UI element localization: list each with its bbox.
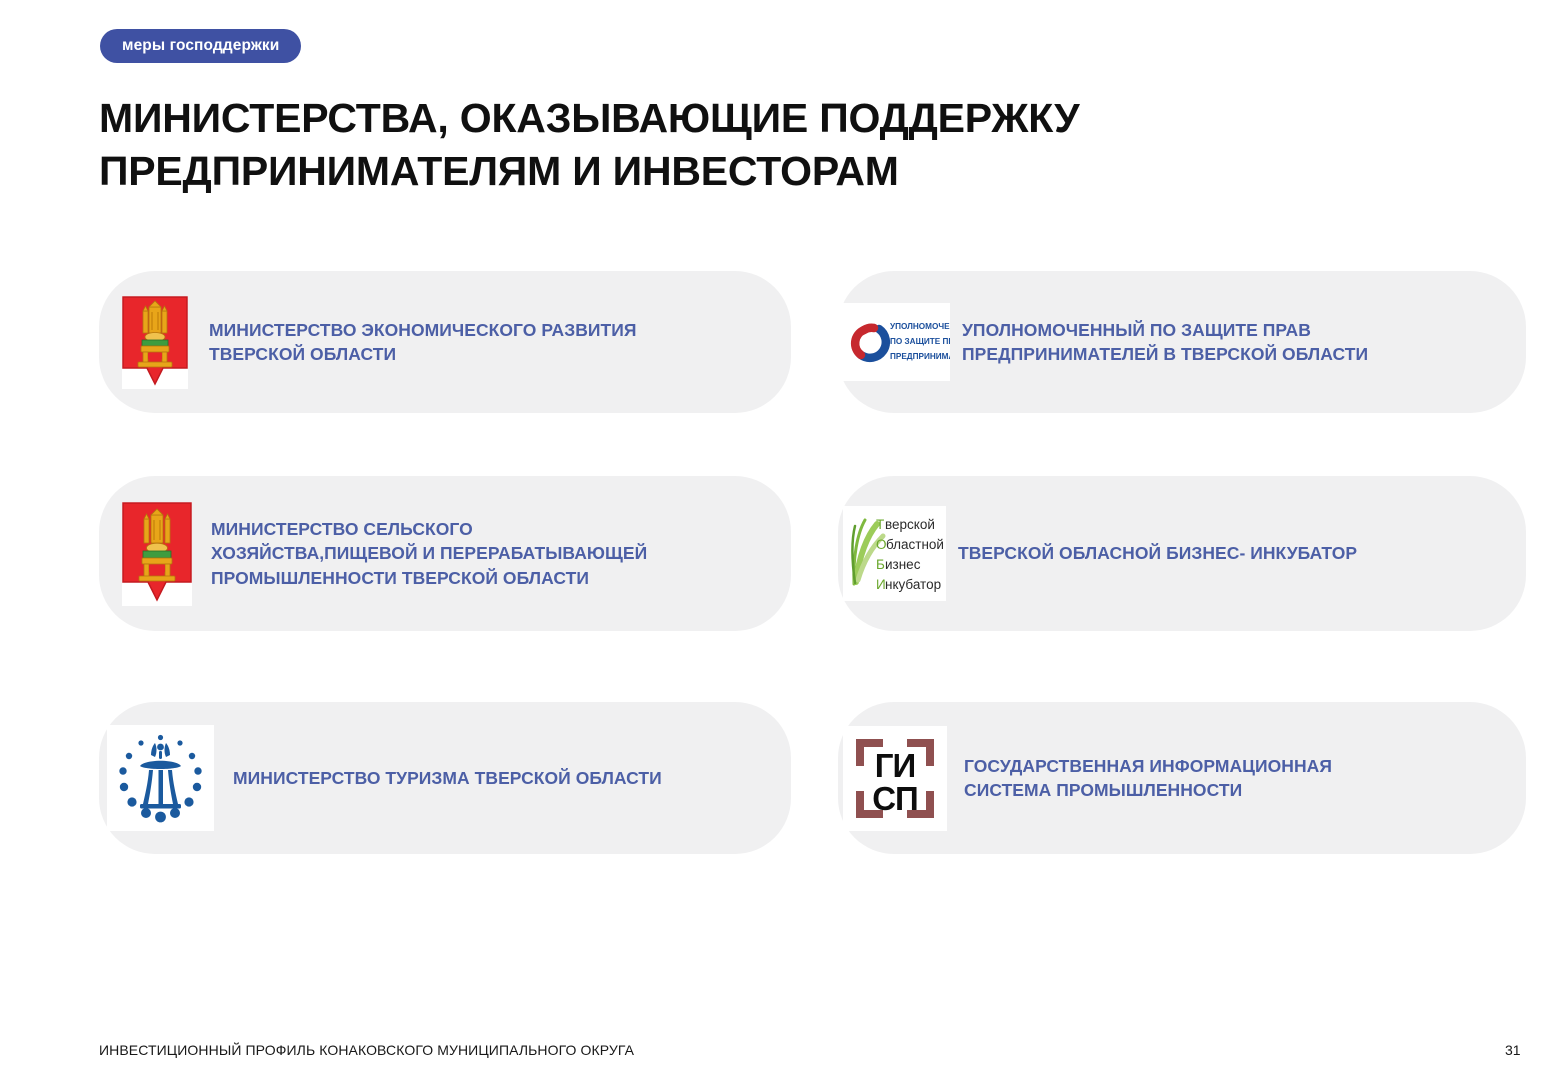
card-label: МИНИСТЕРСТВО СЕЛЬСКОГО ХОЗЯЙСТВА,ПИЩЕВОЙ… bbox=[211, 517, 647, 589]
card-label: ГОСУДАРСТВЕННАЯ ИНФОРМАЦИОННАЯ СИСТЕМА П… bbox=[964, 754, 1332, 802]
incubator-line2-rest: бластной bbox=[886, 537, 944, 552]
incubator-line3-rest: изнес bbox=[885, 557, 921, 572]
incubator-line3-initial: Б bbox=[876, 557, 885, 572]
ombudsman-logo-line2: ПО ЗАЩИТЕ ПРАВ bbox=[890, 337, 950, 346]
ombudsman-logo-line1: УПОЛНОМОЧЕННЫЙ bbox=[890, 320, 950, 331]
footer-page-number: 31 bbox=[1505, 1042, 1521, 1058]
incubator-line1-rest: верской bbox=[885, 517, 935, 532]
tver-coat-of-arms-icon bbox=[122, 296, 188, 389]
gisp-letters-bottom: СП bbox=[872, 780, 918, 817]
card-label: МИНИСТЕРСТВО ТУРИЗМА ТВЕРСКОЙ ОБЛАСТИ bbox=[233, 766, 662, 790]
tver-tourism-icon bbox=[107, 725, 214, 831]
gisp-icon: ГИ СП bbox=[843, 726, 947, 831]
footer-document-title: ИНВЕСТИЦИОННЫЙ ПРОФИЛЬ КОНАКОВСКОГО МУНИ… bbox=[99, 1042, 634, 1058]
gisp-letters-top: ГИ bbox=[875, 747, 915, 784]
card-label: МИНИСТЕРСТВО ЭКОНОМИЧЕСКОГО РАЗВИТИЯ ТВЕ… bbox=[209, 318, 637, 366]
card-mineconomy[interactable]: МИНИСТЕРСТВО ЭКОНОМИЧЕСКОГО РАЗВИТИЯ ТВЕ… bbox=[99, 271, 791, 413]
card-label: ТВЕРСКОЙ ОБЛАСНОЙ БИЗНЕС- ИНКУБАТОР bbox=[958, 541, 1357, 565]
card-mintourism[interactable]: МИНИСТЕРСТВО ТУРИЗМА ТВЕРСКОЙ ОБЛАСТИ bbox=[99, 702, 791, 854]
card-minagriculture[interactable]: МИНИСТЕРСТВО СЕЛЬСКОГО ХОЗЯЙСТВА,ПИЩЕВОЙ… bbox=[99, 476, 791, 631]
section-badge-label: меры господдержки bbox=[122, 37, 279, 55]
section-badge: меры господдержки bbox=[100, 29, 301, 63]
card-gisp[interactable]: ГИ СП ГОСУДАРСТВЕННАЯ ИНФОРМАЦИОННАЯ СИС… bbox=[838, 702, 1526, 854]
business-incubator-icon: Т верской О бластной Б изнес И нкубатор bbox=[843, 506, 946, 601]
incubator-line2-initial: О bbox=[876, 537, 887, 552]
tver-coat-of-arms-icon bbox=[122, 502, 192, 606]
ombudsman-logo-line3: ПРЕДПРИНИМАТЕЛЕЙ bbox=[890, 350, 950, 361]
page-title: МИНИСТЕРСТВА, ОКАЗЫВАЮЩИЕ ПОДДЕРЖКУ ПРЕД… bbox=[99, 92, 1399, 199]
business-ombudsman-icon: УПОЛНОМОЧЕННЫЙ ПО ЗАЩИТЕ ПРАВ ПРЕДПРИНИМ… bbox=[826, 303, 950, 381]
incubator-line4-rest: нкубатор bbox=[885, 577, 941, 592]
card-business-incubator[interactable]: Т верской О бластной Б изнес И нкубатор … bbox=[838, 476, 1526, 631]
card-business-ombudsman[interactable]: УПОЛНОМОЧЕННЫЙ ПО ЗАЩИТЕ ПРАВ ПРЕДПРИНИМ… bbox=[838, 271, 1526, 413]
card-label: УПОЛНОМОЧЕННЫЙ ПО ЗАЩИТЕ ПРАВ ПРЕДПРИНИМ… bbox=[962, 318, 1368, 366]
incubator-line1-initial: Т bbox=[876, 517, 884, 532]
